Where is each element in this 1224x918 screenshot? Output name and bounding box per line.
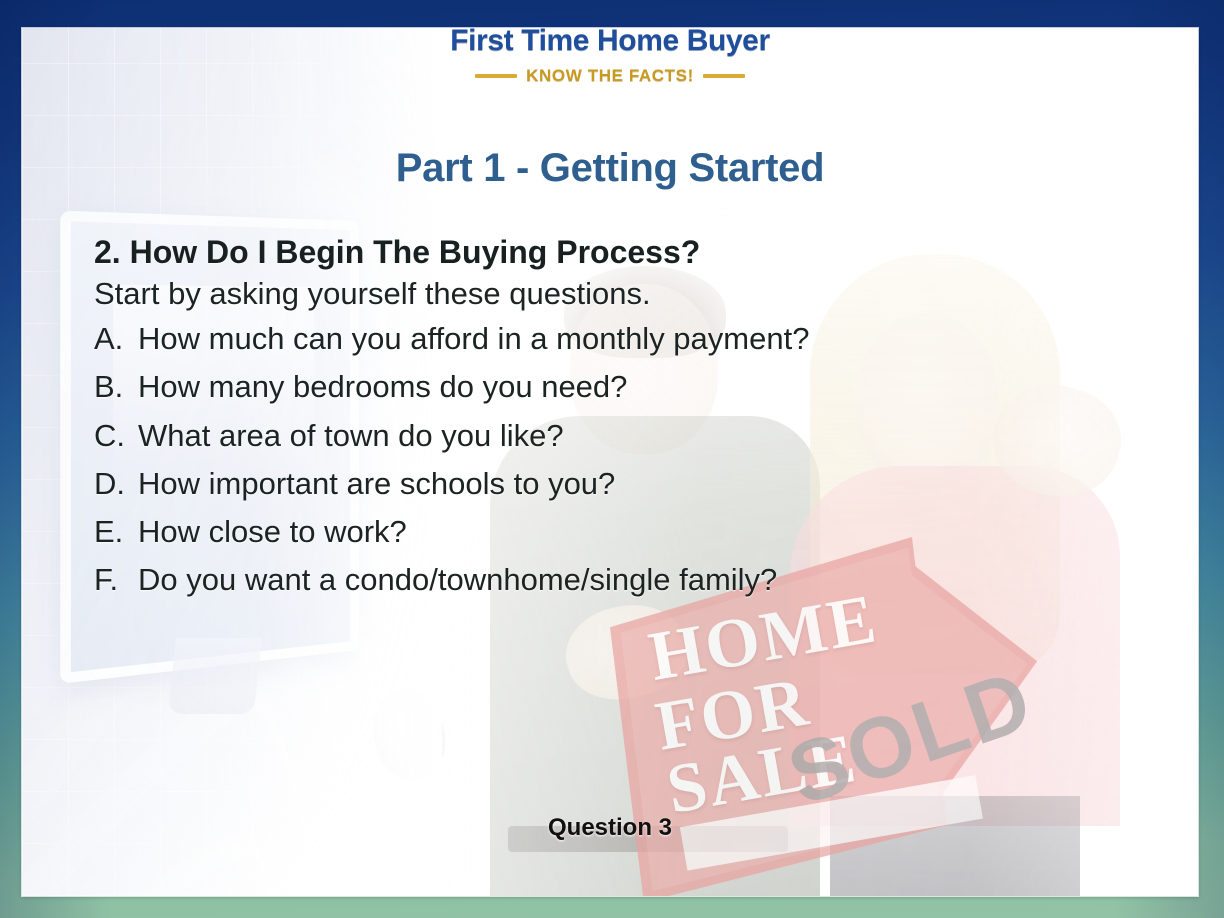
list-item: A. How much can you afford in a monthly … <box>94 315 1158 363</box>
list-item-text: How important are schools to you? <box>138 460 1158 508</box>
list-item: D. How important are schools to you? <box>94 460 1158 508</box>
list-item-text: Do you want a condo/townhome/single fami… <box>138 556 1158 604</box>
list-item-marker: A. <box>94 315 138 363</box>
page-title: Part 1 - Getting Started <box>22 146 1198 191</box>
footer-question-label: Question 3 <box>22 814 1198 842</box>
body-block: 2. How Do I Begin The Buying Process? St… <box>94 234 1158 604</box>
list-item-text: How many bedrooms do you need? <box>138 363 1158 411</box>
logo-dash-left-icon <box>475 74 517 78</box>
list-item-text: What area of town do you like? <box>138 412 1158 460</box>
list-item-text: How much can you afford in a monthly pay… <box>138 315 1158 363</box>
list-item-marker: C. <box>94 412 138 460</box>
logo-subtitle: KNOW THE FACTS! <box>526 66 694 86</box>
list-item: B. How many bedrooms do you need? <box>94 363 1158 411</box>
list-item: F. Do you want a condo/townhome/single f… <box>94 556 1158 604</box>
list-item: C. What area of town do you like? <box>94 412 1158 460</box>
list-item: E. How close to work? <box>94 508 1158 556</box>
slide-frame: HOME FOR SALE SOLD First Time Home Buyer… <box>0 0 1224 918</box>
list-item-marker: D. <box>94 460 138 508</box>
list-item-marker: E. <box>94 508 138 556</box>
slide-canvas: HOME FOR SALE SOLD First Time Home Buyer… <box>22 28 1198 896</box>
question-list: A. How much can you afford in a monthly … <box>94 315 1158 603</box>
logo-dash-right-icon <box>703 74 745 78</box>
logo-subtitle-row: KNOW THE FACTS! <box>433 66 787 86</box>
question-lead: Start by asking yourself these questions… <box>94 274 1158 314</box>
brand-logo-badge: First Time Home Buyer KNOW THE FACTS! <box>433 28 787 100</box>
question-heading: 2. How Do I Begin The Buying Process? <box>94 234 1158 272</box>
list-item-marker: B. <box>94 363 138 411</box>
slide-content: First Time Home Buyer KNOW THE FACTS! Pa… <box>22 28 1198 896</box>
list-item-text: How close to work? <box>138 508 1158 556</box>
list-item-marker: F. <box>94 556 138 604</box>
logo-title: First Time Home Buyer <box>433 28 787 58</box>
